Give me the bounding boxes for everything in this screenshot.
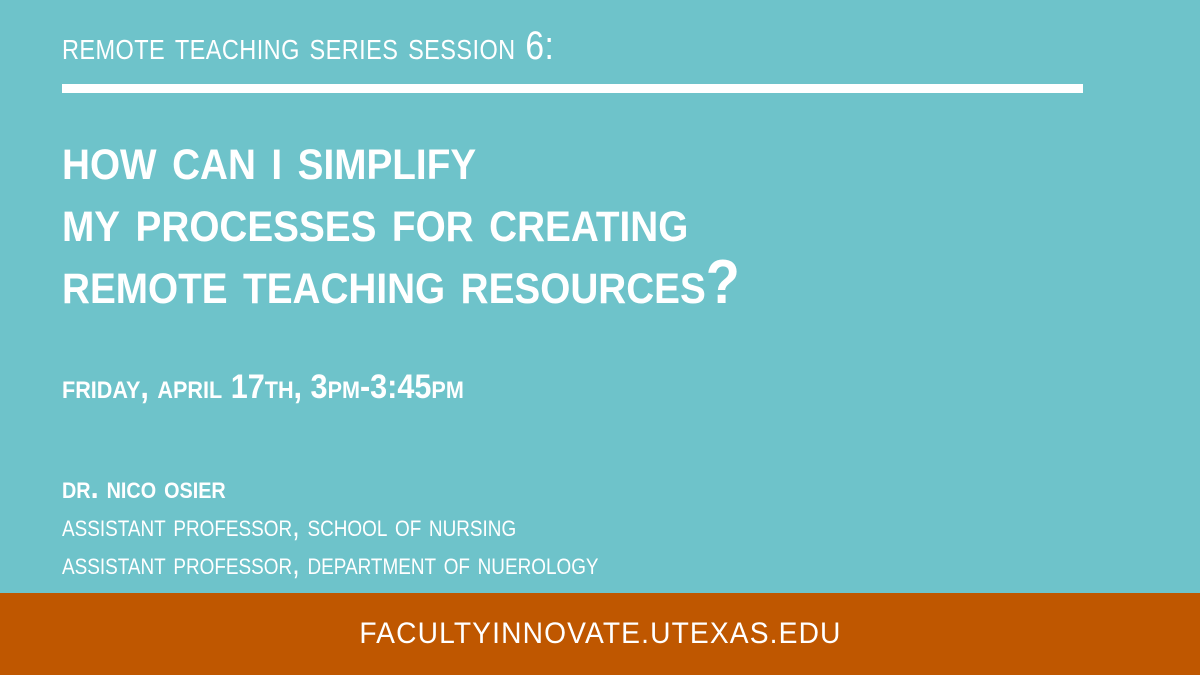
speaker-role-1: Assistant Professor, School of Nursing (62, 506, 599, 544)
speaker-name: Dr. Nico Osier (62, 468, 623, 506)
headline-line-1: How can I simplify (62, 128, 740, 190)
speaker-block: Dr. Nico Osier Assistant Professor, Scho… (62, 468, 686, 582)
promotional-poster: Remote Teaching Series Session 6: How ca… (0, 0, 1200, 675)
series-eyebrow-text: Remote Teaching Series Session 6: (62, 26, 554, 66)
footer-bar: facultyinnovate.utexas.edu (0, 593, 1200, 675)
session-datetime: Friday, April 17th, 3pm-3:45pm (62, 370, 464, 404)
session-headline: How can I simplify my processes for crea… (62, 128, 740, 314)
headline-line-2: my processes for creating (62, 190, 740, 252)
headline-line-3: remote teaching resources? (62, 252, 740, 314)
header-divider-rule (62, 84, 1083, 93)
footer-website-url[interactable]: facultyinnovate.utexas.edu (359, 617, 841, 651)
poster-content: Remote Teaching Series Session 6: How ca… (62, 0, 1138, 675)
speaker-role-2: Assistant Professor, Department of Nuero… (62, 544, 599, 582)
